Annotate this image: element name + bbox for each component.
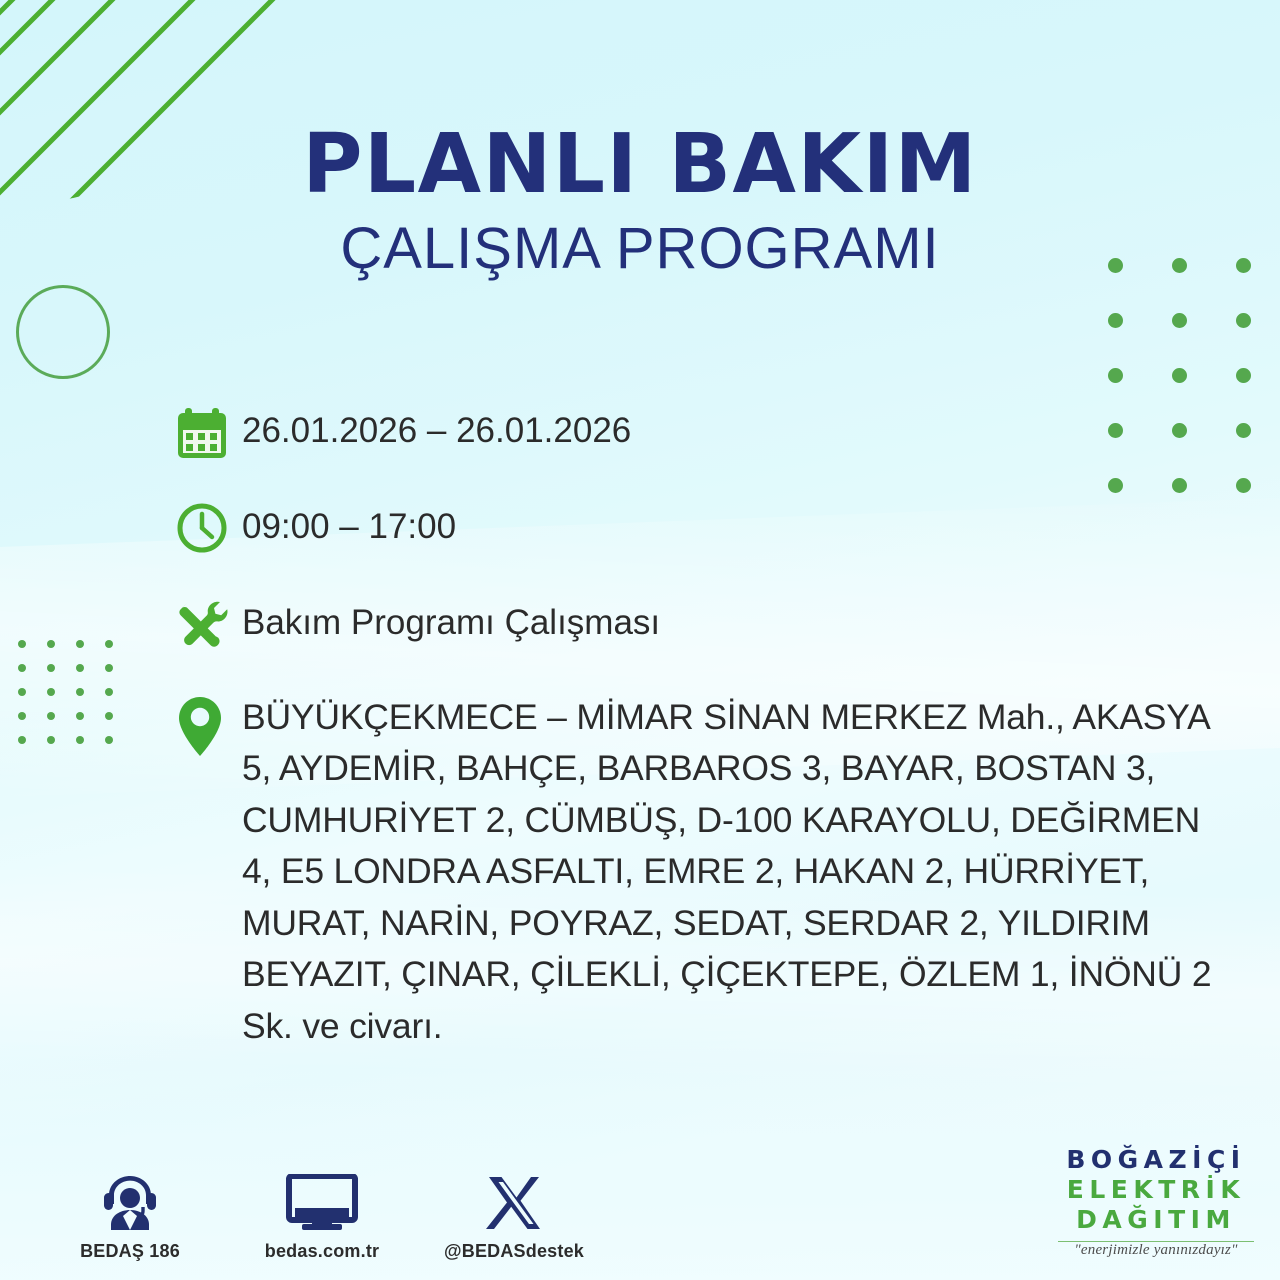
dot bbox=[47, 688, 55, 696]
dot bbox=[1108, 368, 1123, 383]
dot bbox=[1236, 478, 1251, 493]
dot bbox=[1236, 423, 1251, 438]
outage-work-type: Bakım Programı Çalışması bbox=[242, 596, 660, 642]
page-subtitle: ÇALIŞMA PROGRAMI bbox=[0, 220, 1280, 278]
circle-outline-decoration bbox=[16, 285, 110, 379]
dot bbox=[47, 640, 55, 648]
dot bbox=[1108, 313, 1123, 328]
outage-info-list: 26.01.2026 – 26.01.2026 09:00 – 17:00 bbox=[176, 404, 1236, 1052]
dot bbox=[18, 712, 26, 720]
poster-canvas: PLANLI BAKIM ÇALIŞMA PROGRAMI bbox=[0, 0, 1280, 1280]
dot-grid-decoration-left bbox=[18, 640, 113, 744]
contact-social-x-label: @BEDASdestek bbox=[444, 1241, 584, 1262]
dot bbox=[105, 664, 113, 672]
brand-tagline: "enerjimizle yanınızdayız" bbox=[1074, 1242, 1237, 1258]
dot bbox=[18, 640, 26, 648]
outage-date-range: 26.01.2026 – 26.01.2026 bbox=[242, 404, 631, 450]
dot bbox=[47, 736, 55, 744]
info-row-location: BÜYÜKÇEKMECE – MİMAR SİNAN MERKEZ Mah., … bbox=[176, 692, 1236, 1052]
info-row-work-type: Bakım Programı Çalışması bbox=[176, 596, 1236, 658]
poster-footer: BEDAŞ 186 bedas.com.tr bbox=[0, 1120, 1280, 1280]
dot bbox=[105, 712, 113, 720]
info-row-time: 09:00 – 17:00 bbox=[176, 500, 1236, 562]
dot bbox=[76, 736, 84, 744]
dot bbox=[18, 688, 26, 696]
contact-call-center-label: BEDAŞ 186 bbox=[80, 1241, 180, 1262]
monitor-website-icon bbox=[286, 1170, 358, 1232]
tools-icon bbox=[176, 596, 242, 658]
dot bbox=[1236, 368, 1251, 383]
dot bbox=[1172, 368, 1187, 383]
dot bbox=[18, 736, 26, 744]
contact-call-center[interactable]: BEDAŞ 186 bbox=[60, 1170, 200, 1262]
clock-icon bbox=[176, 500, 242, 562]
contact-website[interactable]: bedas.com.tr bbox=[252, 1170, 392, 1262]
x-twitter-icon bbox=[485, 1170, 543, 1232]
dot bbox=[18, 664, 26, 672]
dot bbox=[76, 664, 84, 672]
calendar-icon bbox=[176, 404, 242, 466]
poster-header: PLANLI BAKIM ÇALIŞMA PROGRAMI bbox=[0, 124, 1280, 278]
contact-channels: BEDAŞ 186 bedas.com.tr bbox=[60, 1170, 584, 1262]
dot bbox=[76, 688, 84, 696]
headset-support-icon bbox=[99, 1170, 161, 1232]
contact-social-x[interactable]: @BEDASdestek bbox=[444, 1170, 584, 1262]
dot bbox=[1236, 313, 1251, 328]
dot bbox=[1172, 313, 1187, 328]
dot bbox=[105, 688, 113, 696]
location-pin-icon bbox=[176, 692, 242, 754]
outage-affected-streets: BÜYÜKÇEKMECE – MİMAR SİNAN MERKEZ Mah., … bbox=[242, 692, 1236, 1052]
dot bbox=[105, 736, 113, 744]
brand-line-elektrik: ELEKTRİK bbox=[1058, 1177, 1254, 1202]
outage-time-range: 09:00 – 17:00 bbox=[242, 500, 456, 546]
brand-line-bogazici: BOĞAZİÇİ bbox=[1058, 1147, 1254, 1172]
brand-line-dagitim: DAĞITIM bbox=[1058, 1207, 1254, 1232]
dot bbox=[47, 712, 55, 720]
dot bbox=[47, 664, 55, 672]
dot bbox=[76, 640, 84, 648]
info-row-date: 26.01.2026 – 26.01.2026 bbox=[176, 404, 1236, 466]
dot bbox=[105, 640, 113, 648]
contact-website-label: bedas.com.tr bbox=[265, 1241, 379, 1262]
page-title: PLANLI BAKIM bbox=[0, 124, 1280, 206]
bedas-logo: BOĞAZİÇİ ELEKTRİK DAĞITIM "enerjimizle y… bbox=[1058, 1147, 1254, 1258]
dot bbox=[76, 712, 84, 720]
